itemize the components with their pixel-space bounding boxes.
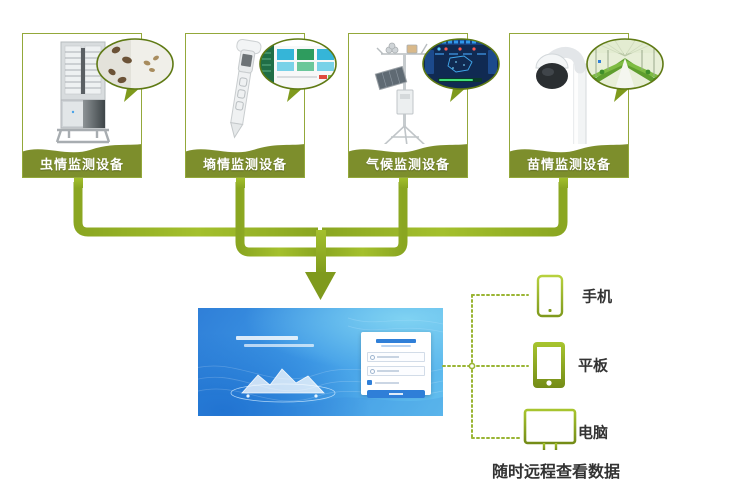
diagram-canvas: 虫情监测设备	[0, 0, 750, 500]
stem-soil	[236, 178, 245, 188]
greenhouse-view-callout	[584, 36, 666, 104]
login-submit-button[interactable]	[367, 390, 425, 398]
login-username-field[interactable]	[367, 352, 425, 362]
card-soil-footer: 墒情监测设备	[185, 142, 305, 178]
card-crop-label: 苗情监测设备	[527, 154, 611, 173]
platform-login-panel[interactable]	[361, 332, 431, 395]
device-desktop-label: 电脑	[578, 422, 608, 443]
desktop-monitor-icon	[522, 408, 578, 456]
device-phone[interactable]: 手机	[534, 274, 714, 318]
platform-mountain-graphic	[228, 363, 338, 403]
device-phone-label: 手机	[582, 286, 612, 307]
stem-crop	[559, 178, 568, 188]
card-pest-label: 虫情监测设备	[40, 154, 124, 173]
soil-data-dashboard-callout	[257, 36, 339, 104]
remote-view-caption: 随时远程查看数据	[492, 458, 620, 482]
cloud-platform-login-screen[interactable]	[198, 308, 443, 416]
login-remember-checkbox[interactable]	[367, 380, 425, 385]
device-desktop[interactable]: 电脑	[522, 408, 702, 456]
tablet-icon	[530, 340, 568, 390]
card-climate-footer: 气候监测设备	[348, 142, 468, 178]
stem-climate	[399, 178, 408, 188]
platform-headline	[236, 336, 314, 347]
climate-data-dashboard-callout	[420, 36, 502, 104]
card-soil-label: 墒情监测设备	[203, 154, 287, 173]
pest-trap-closeup-callout	[94, 36, 176, 104]
device-tablet-label: 平板	[578, 355, 608, 376]
junction-node	[469, 363, 474, 368]
stem-pest	[74, 178, 83, 188]
login-subtitle-placeholder	[381, 345, 411, 347]
device-tablet[interactable]: 平板	[530, 340, 710, 390]
card-climate-label: 气候监测设备	[366, 154, 450, 173]
card-crop-footer: 苗情监测设备	[509, 142, 629, 178]
mobile-phone-icon	[534, 274, 566, 318]
login-title-placeholder	[376, 339, 416, 343]
card-pest-footer: 虫情监测设备	[22, 142, 142, 178]
login-password-field[interactable]	[367, 366, 425, 376]
